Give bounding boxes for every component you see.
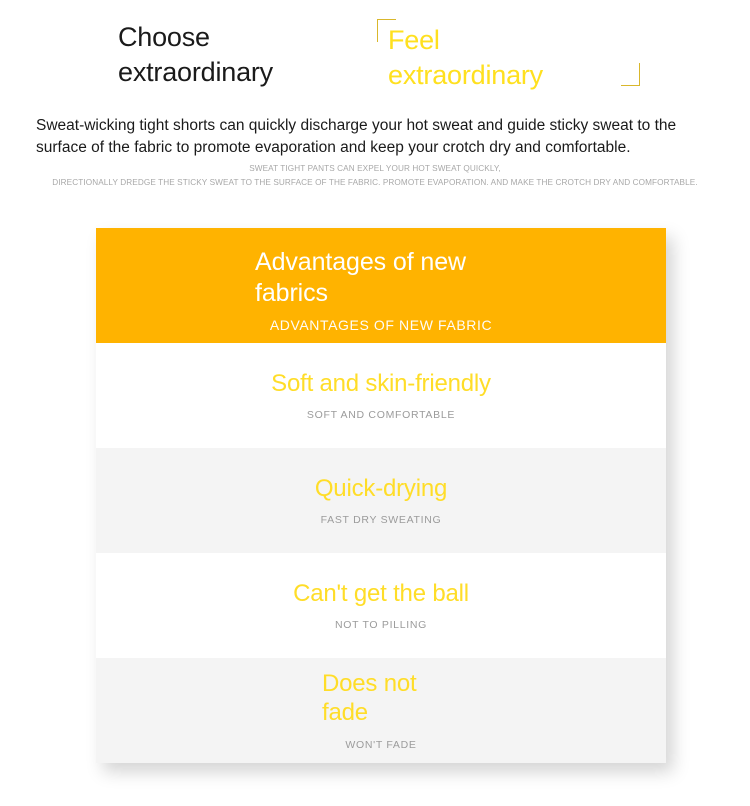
advantages-card-subtitle: ADVANTAGES OF NEW FABRIC [96, 317, 666, 333]
corner-bracket-bottom-right-icon [621, 63, 640, 86]
advantage-row-content: Soft and skin-friendly SOFT AND COMFORTA… [96, 343, 666, 448]
hero-section: Choose extraordinary Feel extraordinary [0, 0, 750, 96]
advantage-title: Can't get the ball [293, 580, 469, 609]
advantage-subtitle: NOT TO PILLING [335, 619, 427, 631]
advantage-subtitle: SOFT AND COMFORTABLE [307, 409, 455, 421]
advantage-row: Quick-drying FAST DRY SWEATING [96, 448, 666, 553]
hero-heading-primary: Choose extraordinary [118, 20, 273, 89]
advantages-card: Advantages of new fabrics ADVANTAGES OF … [96, 228, 666, 763]
advantage-row-content: Can't get the ball NOT TO PILLING [96, 553, 666, 658]
advantage-title: Quick-drying [315, 475, 447, 504]
advantage-title: Does not fade [322, 670, 432, 728]
advantage-row-content: Quick-drying FAST DRY SWEATING [96, 448, 666, 553]
subcaption-line-2: DIRECTIONALLY DREDGE THE STICKY SWEAT TO… [0, 176, 750, 190]
advantages-card-title: Advantages of new fabrics [255, 247, 507, 308]
subcaption-block: SWEAT TIGHT PANTS CAN EXPEL YOUR HOT SWE… [0, 162, 750, 191]
advantages-card-header: Advantages of new fabrics ADVANTAGES OF … [96, 228, 666, 343]
advantage-row: Can't get the ball NOT TO PILLING [96, 553, 666, 658]
hero-heading-accent-group: Feel extraordinary [377, 19, 639, 89]
advantage-title: Soft and skin-friendly [271, 370, 491, 399]
advantage-subtitle: WON'T FADE [345, 739, 416, 751]
advantages-card-header-inner: Advantages of new fabrics ADVANTAGES OF … [96, 247, 666, 333]
advantage-subtitle: FAST DRY SWEATING [321, 514, 442, 526]
hero-heading-accent: Feel extraordinary [388, 23, 543, 92]
subcaption-line-1: SWEAT TIGHT PANTS CAN EXPEL YOUR HOT SWE… [0, 162, 750, 176]
advantage-row-content: Does not fade WON'T FADE [96, 658, 666, 763]
advantage-row: Does not fade WON'T FADE [96, 658, 666, 763]
lead-paragraph: Sweat-wicking tight shorts can quickly d… [36, 115, 714, 160]
advantage-row: Soft and skin-friendly SOFT AND COMFORTA… [96, 343, 666, 448]
